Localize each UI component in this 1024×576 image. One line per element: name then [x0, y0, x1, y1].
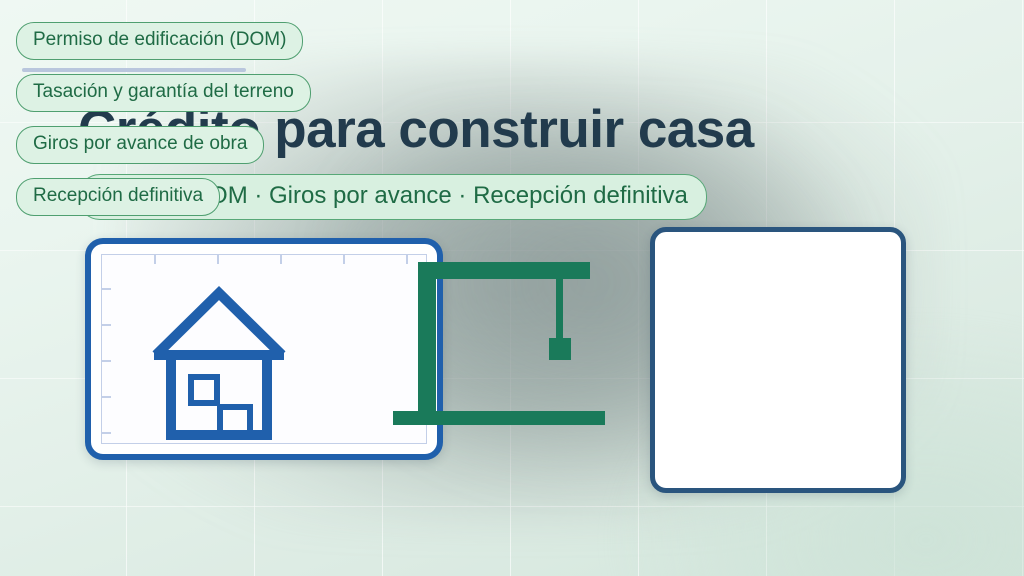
list-item[interactable]: Tasación y garantía del terreno — [16, 74, 616, 126]
step-pill-tasacion[interactable]: Tasación y garantía del terreno — [16, 74, 311, 112]
steps-divider — [22, 68, 246, 72]
list-item[interactable]: Recepción definitiva — [16, 178, 616, 230]
steps-panel — [650, 227, 906, 493]
list-item[interactable]: Permiso de edificación (DOM) — [16, 22, 616, 74]
step-pill-giros[interactable]: Giros por avance de obra — [16, 126, 264, 164]
step-pill-permiso[interactable]: Permiso de edificación (DOM) — [16, 22, 303, 60]
slide-canvas: Crédito para construir casa Permiso DOM … — [0, 0, 1024, 576]
list-item[interactable]: Giros por avance de obra — [16, 126, 616, 178]
step-pill-recepcion[interactable]: Recepción definitiva — [16, 178, 220, 216]
steps-list: Permiso de edificación (DOM) Tasación y … — [16, 22, 616, 230]
